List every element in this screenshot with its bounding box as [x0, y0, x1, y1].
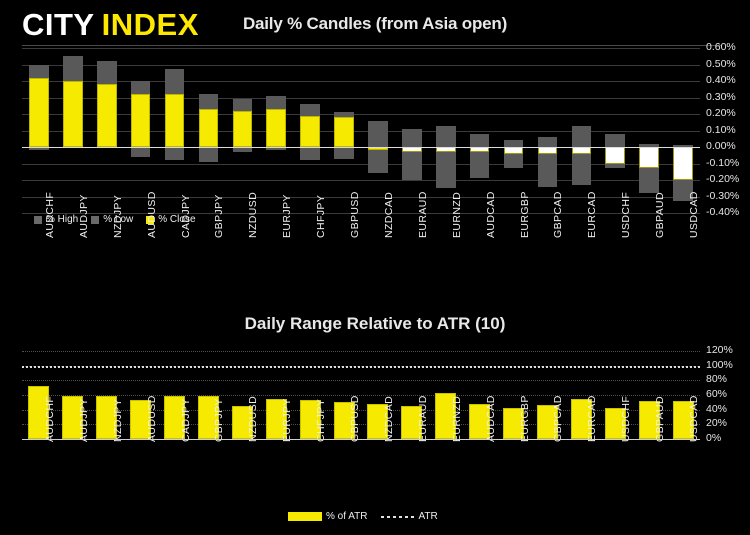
- atr-x-axis-label-eurgbp: EURGBP: [519, 395, 531, 442]
- atr-y-tick: 20%: [706, 418, 727, 429]
- chart1-title: Daily % Candles (from Asia open): [0, 14, 750, 34]
- atr-x-axis-label-usdcad: USDCAD: [688, 395, 700, 442]
- page-header: CITYINDEX Daily % Candles (from Asia ope…: [0, 0, 750, 46]
- x-axis-label-audcad: AUDCAD: [485, 191, 497, 238]
- legend-label: % of ATR: [326, 511, 368, 522]
- dashboard-root: CITYINDEX Daily % Candles (from Asia ope…: [0, 0, 750, 535]
- candles-gridline: [22, 65, 700, 66]
- candles-gridline: [22, 114, 700, 115]
- legend-swatch: [91, 216, 99, 224]
- atr-x-axis-label-audusd: AUDUSD: [146, 395, 158, 442]
- atr-reference-line: [22, 366, 700, 368]
- atr-x-axis-label-nzdusd: NZDUSD: [247, 396, 259, 442]
- candle-gbpaud: [639, 48, 659, 213]
- legend-item: % High: [34, 214, 78, 225]
- atr-x-axis-label-gbpaud: GBPAUD: [654, 396, 666, 442]
- candle-highlow-range: [470, 134, 490, 179]
- candles-zero-line: [22, 147, 700, 148]
- candle-close-body: [266, 109, 286, 147]
- candle-close-body: [233, 111, 253, 147]
- atr-y-tick: 120%: [706, 345, 733, 356]
- atr-x-axis-label-nzdjpy: NZDJPY: [112, 399, 124, 442]
- atr-x-axis-label-eurjpy: EURJPY: [281, 398, 293, 442]
- atr-legend: % of ATRATR: [288, 511, 438, 522]
- candle-usdcad: [673, 48, 693, 213]
- candles-gridline: [22, 164, 700, 165]
- x-axis-label-audjpy: AUDJPY: [78, 194, 90, 238]
- atr-gridline: [22, 395, 700, 396]
- candles-y-tick: 0.50%: [706, 59, 736, 70]
- candle-nzdcad: [368, 48, 388, 213]
- x-axis-label-nzdcad: NZDCAD: [383, 192, 395, 238]
- candles-gridline: [22, 131, 700, 132]
- candle-close-body: [673, 147, 693, 180]
- atr-y-tick: 80%: [706, 374, 727, 385]
- atr-y-tick: 100%: [706, 360, 733, 371]
- candle-close-body: [300, 116, 320, 147]
- legend-swatch: [381, 512, 415, 521]
- atr-gridline: [22, 351, 700, 352]
- atr-x-axis-label-eurcad: EURCAD: [586, 395, 598, 442]
- x-axis-label-eurnzd: EURNZD: [451, 192, 463, 238]
- atr-baseline: [22, 439, 700, 440]
- legend-swatch: [34, 216, 42, 224]
- x-axis-label-audchf: AUDCHF: [44, 192, 56, 238]
- atr-x-axis-label-eurnzd: EURNZD: [451, 396, 463, 442]
- x-axis-label-chfjpy: CHFJPY: [315, 195, 327, 238]
- x-axis-label-usdchf: USDCHF: [620, 192, 632, 238]
- legend-item: % of ATR: [288, 511, 368, 522]
- candles-plot-area: [22, 48, 700, 213]
- candles-y-tick: 0.60%: [706, 42, 736, 53]
- candle-close-body: [605, 147, 625, 164]
- candles-gridline: [22, 98, 700, 99]
- atr-x-axis-label-nzdcad: NZDCAD: [383, 396, 395, 442]
- candles-y-tick: 0.20%: [706, 108, 736, 119]
- atr-gridline: [22, 380, 700, 381]
- candles-gridline: [22, 180, 700, 181]
- atr-x-axis-label-cadjpy: CADJPY: [180, 398, 192, 442]
- legend-label: ATR: [419, 511, 438, 522]
- candle-close-body: [199, 109, 219, 147]
- candles-y-tick: -0.20%: [706, 174, 739, 185]
- candles-y-tick: -0.30%: [706, 191, 739, 202]
- candle-highlow-range: [436, 126, 456, 189]
- candle-nzdusd: [233, 48, 253, 213]
- atr-x-axis-label-euraud: EURAUD: [417, 395, 429, 442]
- candle-audchf: [29, 48, 49, 213]
- x-axis-label-nzdusd: NZDUSD: [247, 192, 259, 238]
- legend-swatch: [288, 512, 322, 521]
- candle-close-body: [334, 117, 354, 147]
- x-axis-label-usdcad: USDCAD: [688, 191, 700, 238]
- candle-highlow-range: [504, 140, 524, 168]
- x-axis-label-eurgbp: EURGBP: [519, 191, 531, 238]
- atr-y-tick: 0%: [706, 433, 721, 444]
- candle-close-body: [29, 78, 49, 147]
- candles-y-tick: 0.40%: [706, 75, 736, 86]
- atr-x-axis-label-gbpcad: GBPCAD: [552, 395, 564, 442]
- x-axis-label-cadjpy: CADJPY: [180, 194, 192, 238]
- candle-eurnzd: [436, 48, 456, 213]
- x-axis-label-euraud: EURAUD: [417, 191, 429, 238]
- atr-x-axis-label-chfjpy: CHFJPY: [315, 399, 327, 442]
- atr-y-tick: 60%: [706, 389, 727, 400]
- candle-audusd: [131, 48, 151, 213]
- candle-eurcad: [572, 48, 592, 213]
- atr-x-axis: AUDCHFAUDJPYNZDJPYAUDUSDCADJPYGBPJPYNZDU…: [22, 442, 700, 508]
- candle-audcad: [470, 48, 490, 213]
- candles-y-tick: -0.40%: [706, 207, 739, 218]
- x-axis-label-gbpjpy: GBPJPY: [213, 194, 225, 238]
- atr-x-axis-label-gbpjpy: GBPJPY: [213, 398, 225, 442]
- x-axis-label-audusd: AUDUSD: [146, 191, 158, 238]
- x-axis-label-eurjpy: EURJPY: [281, 194, 293, 238]
- candles-y-tick: 0.30%: [706, 92, 736, 103]
- x-axis-label-eurcad: EURCAD: [586, 191, 598, 238]
- candle-close-body: [165, 94, 185, 147]
- candles-y-tick: -0.10%: [706, 158, 739, 169]
- candle-highlow-range: [402, 129, 422, 180]
- candle-close-body: [131, 94, 151, 147]
- atr-x-axis-label-usdchf: USDCHF: [620, 396, 632, 442]
- candle-close-body: [639, 147, 659, 168]
- candles-gridline: [22, 48, 700, 49]
- candle-gbpjpy: [199, 48, 219, 213]
- candle-cadjpy: [165, 48, 185, 213]
- candle-euraud: [402, 48, 422, 213]
- x-axis-label-nzdjpy: NZDJPY: [112, 195, 124, 238]
- candles-y-tick: 0.10%: [706, 125, 736, 136]
- candles-gridline: [22, 81, 700, 82]
- candle-usdchf: [605, 48, 625, 213]
- header-divider: [22, 45, 722, 46]
- candles-x-axis: AUDCHFAUDJPYNZDJPYAUDUSDCADJPYGBPJPYNZDU…: [22, 238, 700, 310]
- chart2-title: Daily Range Relative to ATR (10): [0, 314, 750, 334]
- candle-close-body: [63, 81, 83, 147]
- atr-x-axis-label-audjpy: AUDJPY: [78, 398, 90, 442]
- candles-y-tick: 0.00%: [706, 141, 736, 152]
- atr-x-axis-label-gbpusd: GBPUSD: [349, 395, 361, 442]
- atr-y-tick: 40%: [706, 404, 727, 415]
- candle-gbpcad: [538, 48, 558, 213]
- x-axis-label-gbpusd: GBPUSD: [349, 191, 361, 238]
- atr-x-axis-label-audcad: AUDCAD: [485, 395, 497, 442]
- candle-highlow-range: [538, 137, 558, 187]
- legend-item: ATR: [381, 511, 438, 522]
- candle-audjpy: [63, 48, 83, 213]
- candle-chfjpy: [300, 48, 320, 213]
- candle-eurjpy: [266, 48, 286, 213]
- candle-eurgbp: [504, 48, 524, 213]
- candle-highlow-range: [572, 126, 592, 185]
- candle-nzdjpy: [97, 48, 117, 213]
- x-axis-label-gbpcad: GBPCAD: [552, 191, 564, 238]
- candle-gbpusd: [334, 48, 354, 213]
- candle-close-body: [97, 84, 117, 147]
- atr-x-axis-label-audchf: AUDCHF: [44, 396, 56, 442]
- x-axis-label-gbpaud: GBPAUD: [654, 192, 666, 238]
